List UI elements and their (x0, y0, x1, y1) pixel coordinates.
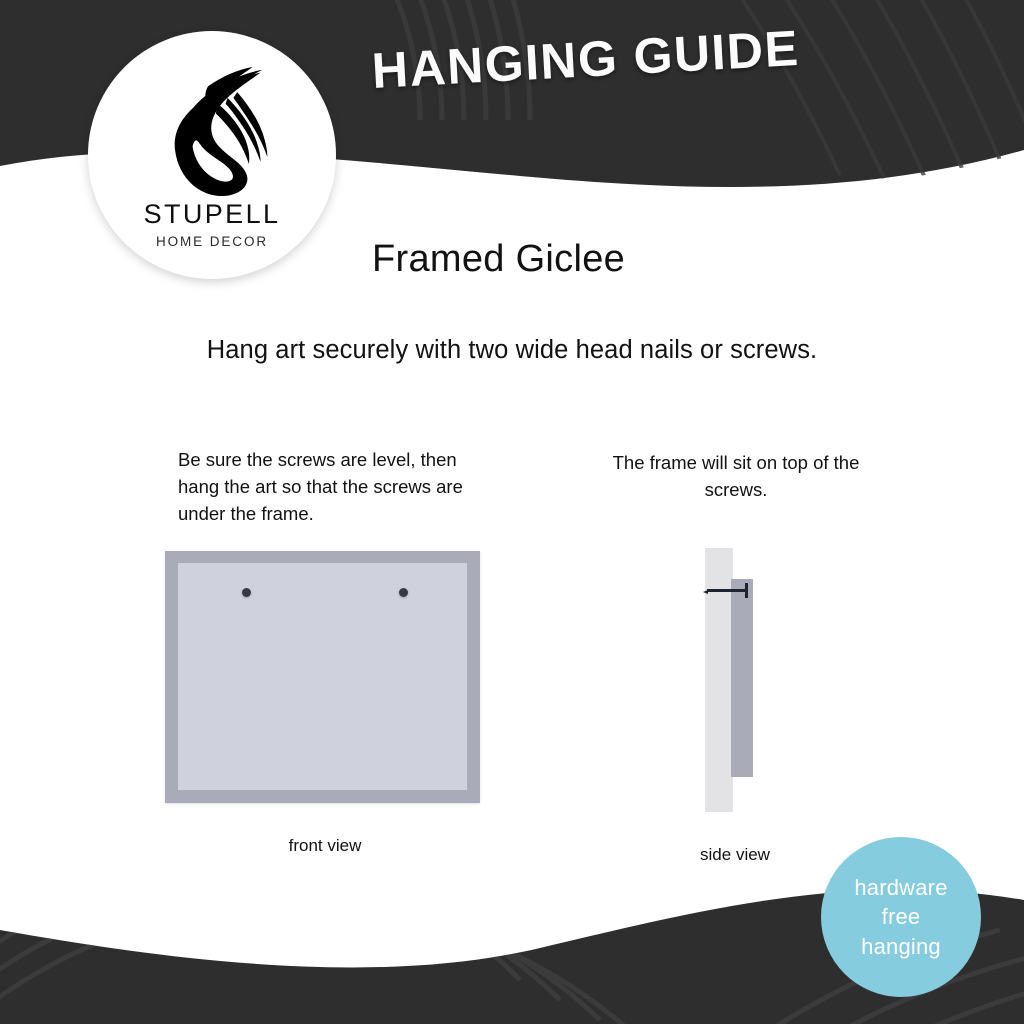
side-view-caption: The frame will sit on top of the screws. (600, 450, 872, 504)
badge-line-2: free (882, 902, 921, 931)
frame-profile (731, 579, 753, 777)
badge-line-1: hardware (854, 873, 947, 902)
badge-line-3: hanging (861, 932, 941, 961)
brand-name: STUPELL (144, 201, 281, 228)
hanging-guide-page: STUPELL HOME DECOR HANGING GUIDE Framed … (0, 0, 1024, 1024)
hardware-free-badge: hardware free hanging (821, 837, 981, 997)
page-title: HANGING GUIDE (370, 14, 892, 100)
wall-surface (705, 548, 733, 812)
front-view-label: front view (165, 836, 485, 856)
front-view-caption: Be sure the screws are level, then hang … (178, 447, 478, 527)
frame-mat (178, 563, 467, 790)
brand-logo-badge: STUPELL HOME DECOR (88, 31, 336, 279)
nail-tip-icon (703, 590, 708, 594)
nail-head-icon (745, 583, 748, 598)
lead-instruction: Hang art securely with two wide head nai… (0, 336, 1024, 365)
product-type-title: Framed Giclee (372, 238, 625, 281)
side-view-diagram (705, 548, 777, 812)
front-view-diagram (165, 551, 480, 803)
brand-tagline: HOME DECOR (144, 235, 281, 249)
nail-shaft-icon (707, 589, 747, 592)
side-view-label: side view (640, 845, 830, 865)
screw-dot-right (399, 588, 408, 597)
stupell-swoosh-icon (153, 61, 271, 197)
screw-dot-left (242, 588, 251, 597)
